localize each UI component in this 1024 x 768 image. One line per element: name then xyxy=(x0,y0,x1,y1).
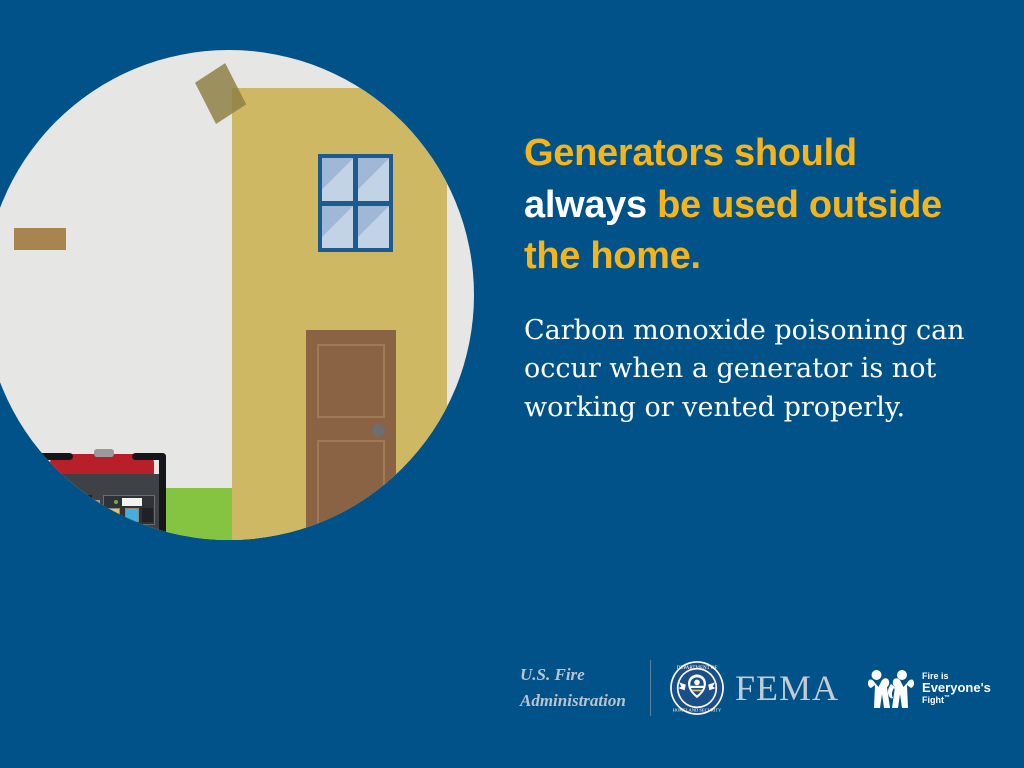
door-knob xyxy=(372,424,385,437)
headline-part-1: Generators should xyxy=(524,132,857,174)
dhs-seal-bottom-text: HOMELAND SECURITY xyxy=(673,708,722,713)
body-copy: Carbon monoxide poisoning can occur when… xyxy=(524,312,974,427)
generator-frame-handle-left xyxy=(39,453,73,460)
window-pane xyxy=(322,206,353,249)
generator-indicator-led xyxy=(114,500,118,504)
portable-generator xyxy=(26,445,181,540)
fief-trademark: ™ xyxy=(944,695,950,701)
dhs-seal-top-text: DEPARTMENT OF xyxy=(677,665,718,671)
illustration-circle xyxy=(0,50,474,540)
generator-outlet-dark xyxy=(142,508,153,522)
generator-frame-handle-right xyxy=(132,453,166,460)
footer-logo-bar: U.S. Fire Administration DEPARTMENT OF H… xyxy=(520,652,1000,724)
door-panel-top xyxy=(317,344,385,418)
headline: Generators should always be used outside… xyxy=(524,128,954,283)
door-panel-bottom xyxy=(317,440,385,534)
generator-outlet-orange xyxy=(106,508,120,522)
window-pane xyxy=(358,158,389,201)
window-pane xyxy=(358,206,389,249)
generator-display xyxy=(122,498,142,506)
fief-line-3: Fight™ xyxy=(922,695,991,705)
generator-frame-left xyxy=(39,453,46,540)
generator-frame-right xyxy=(159,453,166,540)
headline-emphasis-always: always xyxy=(524,184,647,226)
house-door xyxy=(306,330,396,540)
usfa-logo: U.S. Fire Administration xyxy=(520,662,638,715)
fema-wordmark: FEMA xyxy=(735,667,839,709)
dhs-seal-icon: DEPARTMENT OF HOMELAND SECURITY xyxy=(669,660,725,716)
footer-divider xyxy=(650,660,651,716)
fema-logo: DEPARTMENT OF HOMELAND SECURITY FEMA xyxy=(669,660,839,716)
fief-line-2: Everyone's xyxy=(922,681,991,696)
poster-canvas: Generators should always be used outside… xyxy=(0,0,1024,768)
generator-outlet-blue xyxy=(125,508,139,522)
fire-is-everyones-fight-text: Fire is Everyone's Fight™ xyxy=(922,671,991,706)
window-pane xyxy=(322,158,353,201)
house-window xyxy=(318,154,393,252)
two-figures-flame-icon xyxy=(865,665,917,711)
generator-engine-highlight xyxy=(66,509,80,517)
usfa-logo-line2: Administration xyxy=(520,688,638,714)
generator-fuel-cap xyxy=(94,449,114,457)
generator-body xyxy=(45,474,159,496)
usfa-logo-line1: U.S. Fire xyxy=(520,662,638,688)
house-roof-eave xyxy=(14,228,66,250)
fief-line-3-word: Fight xyxy=(922,695,944,705)
fire-is-everyones-fight-logo: Fire is Everyone's Fight™ xyxy=(865,665,991,711)
